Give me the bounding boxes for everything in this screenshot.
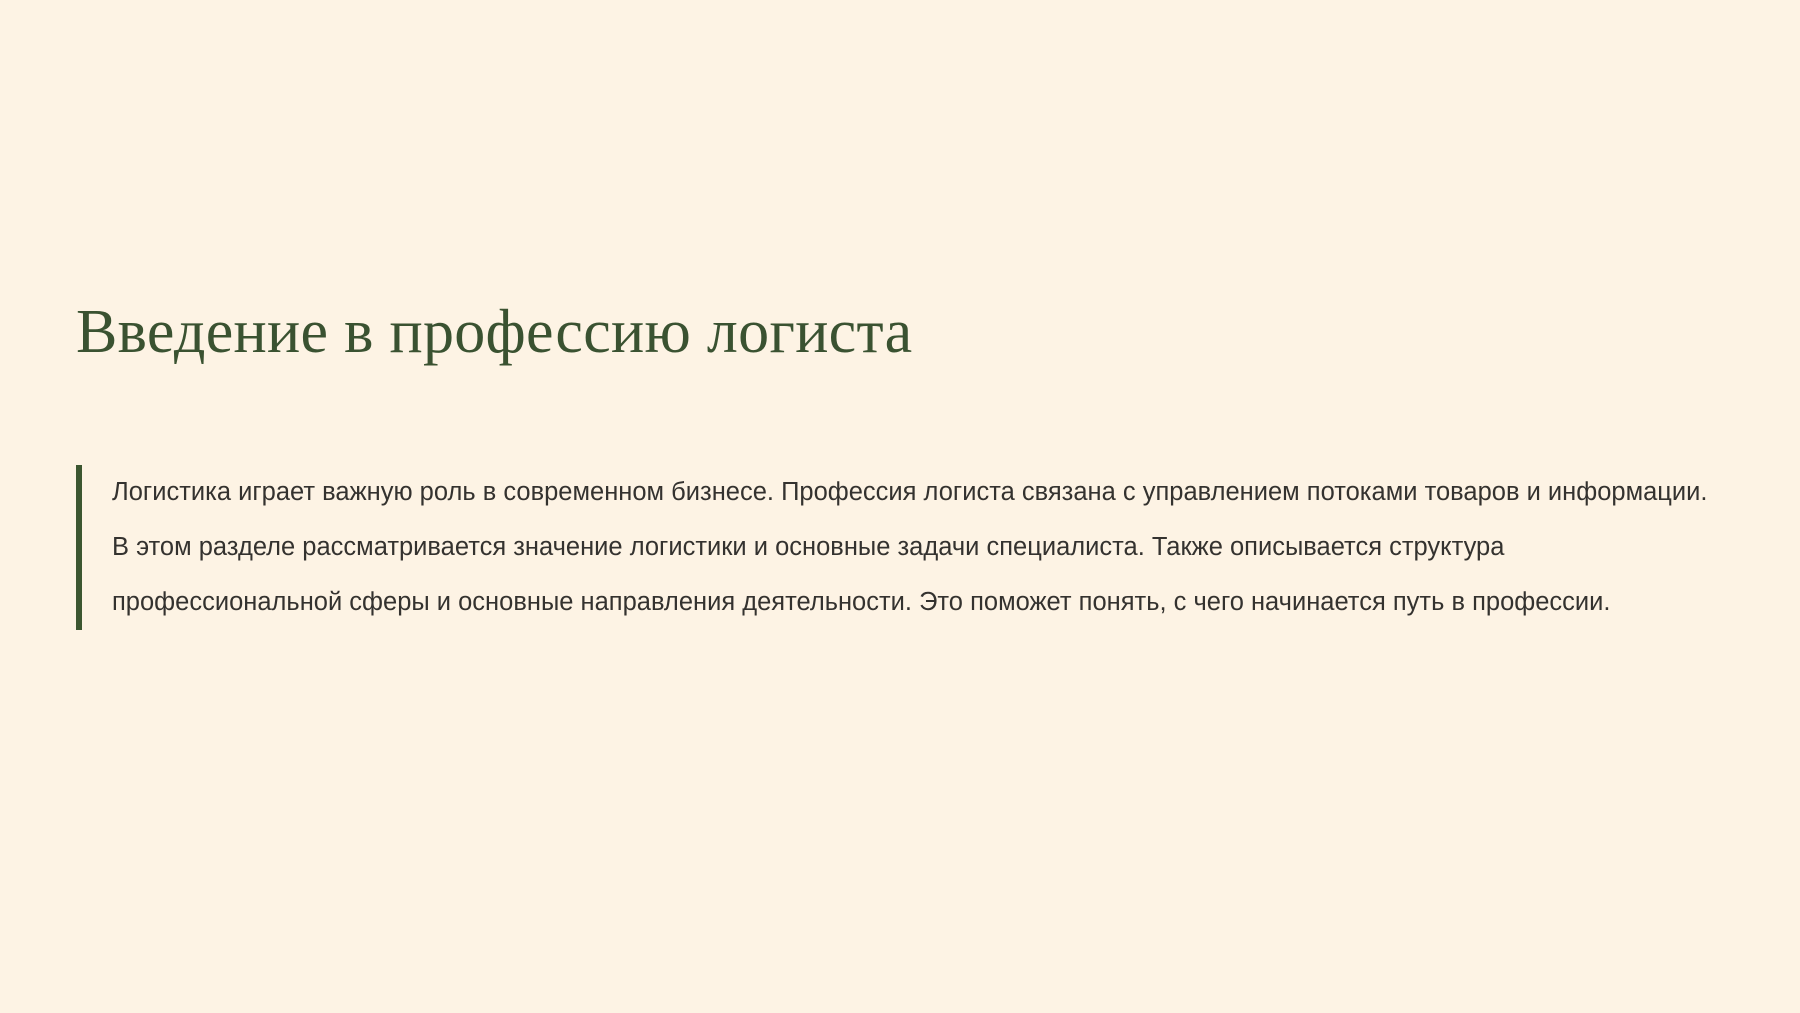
body-text-container: Логистика играет важную роль в современн… bbox=[82, 465, 1716, 630]
page-title: Введение в профессию логиста bbox=[76, 296, 1716, 369]
body-paragraph: Логистика играет важную роль в современн… bbox=[112, 465, 1716, 630]
body-callout-block: Логистика играет важную роль в современн… bbox=[76, 465, 1716, 630]
slide-canvas: Введение в профессию логиста Логистика и… bbox=[0, 0, 1800, 1013]
